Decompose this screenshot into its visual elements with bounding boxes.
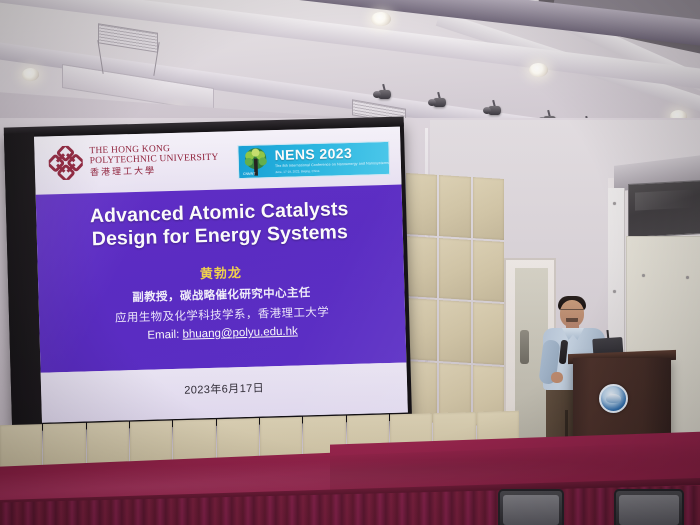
acoustic-panel	[473, 240, 504, 302]
panel-screw	[686, 276, 689, 279]
polyu-logo-icon	[48, 145, 83, 180]
email-address: bhuang@polyu.edu.hk	[182, 326, 298, 341]
slide-body: Advanced Atomic Catalysts Design for Ene…	[36, 185, 407, 373]
acoustic-panel	[406, 298, 437, 360]
audience-chair[interactable]	[498, 489, 564, 525]
presentation-slide: THE HONG KONG POLYTECHNIC UNIVERSITY 香港理…	[34, 127, 408, 423]
downlight	[22, 68, 39, 81]
track-spotlight-icon	[488, 106, 501, 115]
institution-seal-icon	[599, 384, 628, 413]
polyu-wordmark: THE HONG KONG POLYTECHNIC UNIVERSITY 香港理…	[89, 144, 219, 178]
email-label: Email:	[147, 329, 179, 342]
acoustic-panel	[439, 175, 470, 237]
panel-screw	[642, 274, 645, 277]
panel-screw	[613, 290, 616, 293]
downlight	[529, 63, 548, 77]
svg-text:CNMNT: CNMNT	[243, 172, 255, 176]
door-object	[520, 330, 529, 364]
lecture-hall-photo: THE HONG KONG POLYTECHNIC UNIVERSITY 香港理…	[0, 0, 700, 525]
acoustic-panel	[406, 173, 437, 235]
panel-screw	[613, 202, 616, 205]
nens-conference-logo: CNMNT NENS 2023 The 8th International Co…	[237, 141, 390, 179]
polyu-name-chinese: 香港理工大學	[90, 164, 219, 177]
acoustic-panel	[406, 236, 437, 298]
chair-back-cushion	[503, 495, 559, 525]
projection-screen: THE HONG KONG POLYTECHNIC UNIVERSITY 香港理…	[4, 122, 412, 431]
nens-text-block: NENS 2023 The 8th International Conferen…	[272, 145, 389, 174]
chair-back-cushion	[619, 495, 679, 525]
speaker-glasses	[561, 309, 583, 314]
acoustic-panel-wall	[406, 173, 504, 427]
acoustic-panel	[439, 300, 470, 362]
polyu-branding: THE HONG KONG POLYTECHNIC UNIVERSITY 香港理…	[48, 142, 219, 181]
slide-footer: 2023年6月17日	[41, 362, 408, 422]
slide-date: 2023年6月17日	[41, 375, 407, 401]
downlight	[371, 12, 391, 26]
display-glare	[635, 190, 693, 211]
speaker-hand	[551, 372, 563, 383]
nens-title: NENS 2023	[274, 145, 388, 162]
slide-title: Advanced Atomic Catalysts Design for Ene…	[36, 197, 403, 252]
nens-tree-icon: CNMNT	[238, 146, 273, 177]
acoustic-panel	[473, 177, 504, 239]
track-spotlight-icon	[378, 90, 391, 99]
slide-header: THE HONG KONG POLYTECHNIC UNIVERSITY 香港理…	[34, 127, 401, 195]
acoustic-panel	[473, 302, 504, 364]
track-spotlight-icon	[433, 98, 446, 107]
audience-chair[interactable]	[614, 489, 684, 525]
wall-display-panel	[628, 180, 700, 238]
acoustic-panel	[439, 238, 470, 300]
